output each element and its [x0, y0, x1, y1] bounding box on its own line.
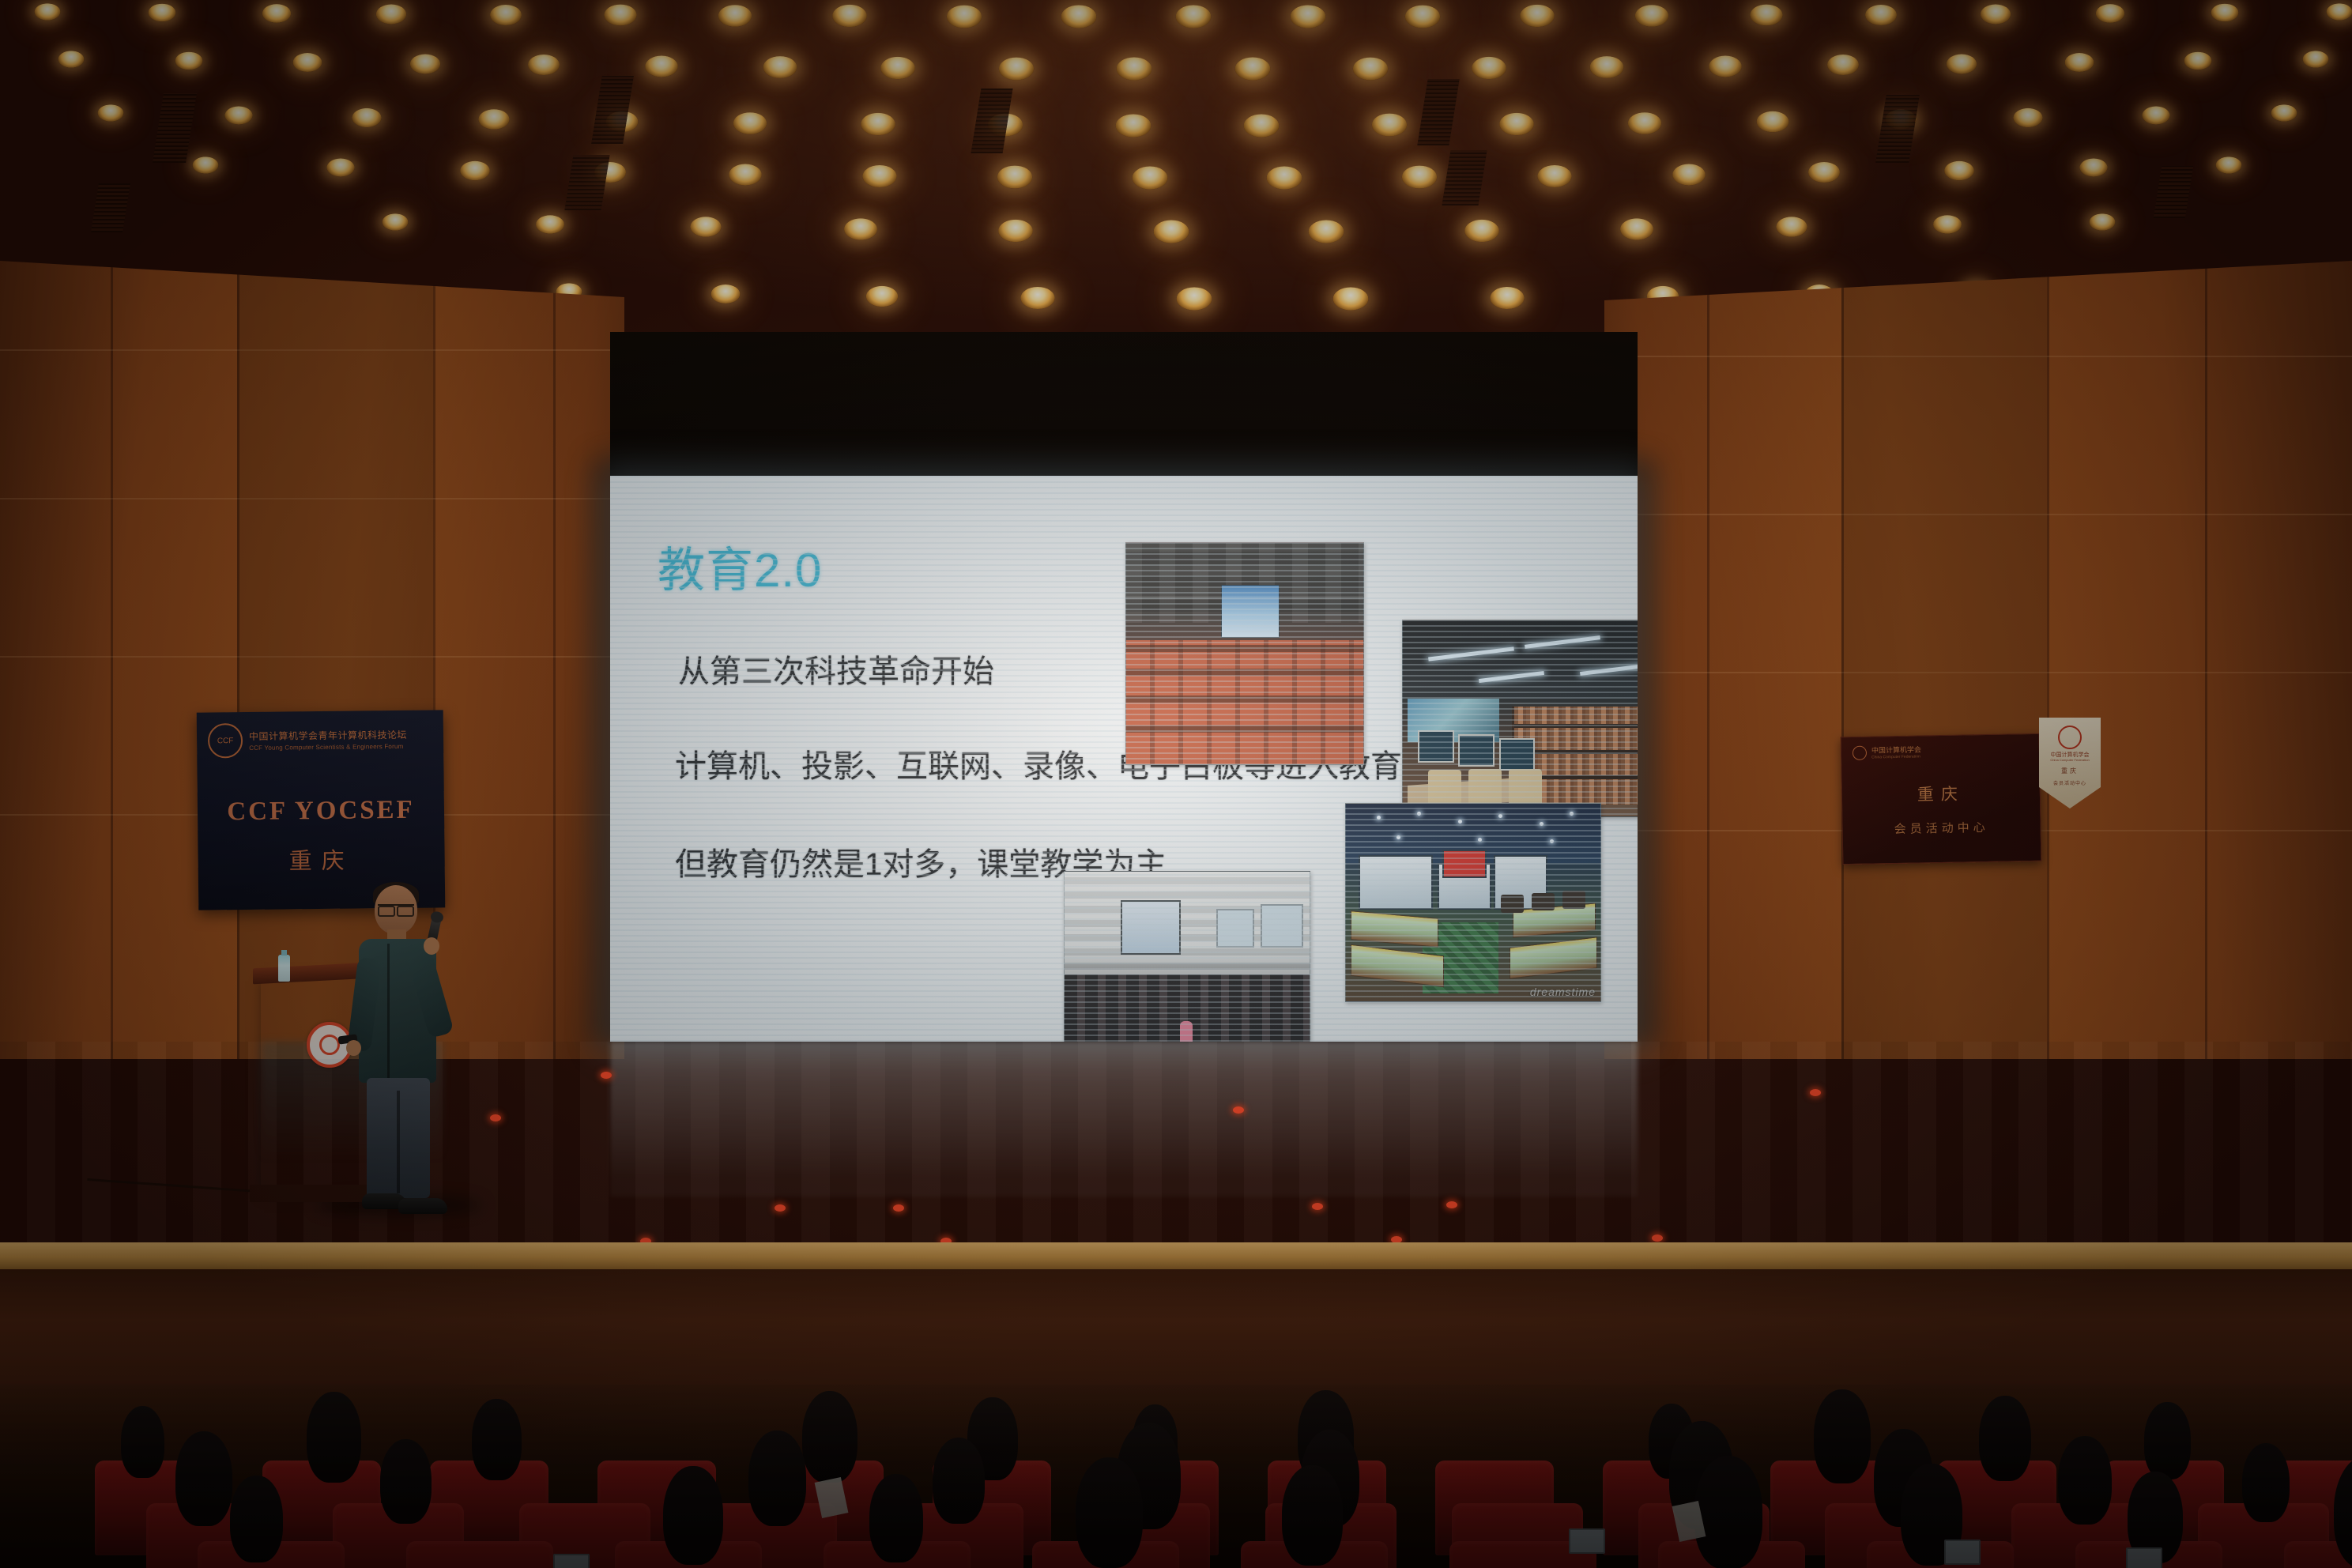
library-computer-photo — [1402, 620, 1638, 817]
ceiling-downlight — [1865, 5, 1897, 25]
plaque-subtitle: 会员活动中心 — [1842, 818, 2040, 838]
banner-city: 重庆 — [198, 841, 444, 876]
ceiling-downlight — [763, 56, 797, 78]
ceiling-downlight — [98, 104, 124, 121]
ceiling-downlight — [1332, 287, 1368, 310]
ceiling-downlight — [947, 5, 982, 28]
ceiling-downlight — [1267, 166, 1302, 189]
ceiling-downlight — [1405, 5, 1440, 28]
ceiling-downlight — [1808, 162, 1840, 183]
ceiling-downlight — [1061, 5, 1097, 28]
floor-marker — [1233, 1106, 1244, 1114]
ceiling-downlight — [999, 220, 1034, 242]
presenter-left-hand — [346, 1040, 361, 1056]
plaque-org-cn: 中国计算机学会 — [1871, 744, 1921, 755]
ceiling-downlight — [1709, 55, 1742, 77]
stage-edge-lip — [0, 1242, 2352, 1269]
ceiling-downlight — [2216, 156, 2242, 173]
presenter-right-hand — [424, 937, 439, 955]
ceiling-downlight — [2327, 3, 2352, 20]
ceiling-downlight — [2184, 52, 2211, 70]
pennant-subtitle: 会员活动中心 — [2039, 779, 2101, 786]
ceiling-downlight — [999, 57, 1034, 80]
audience-darkening-overlay — [0, 1385, 2352, 1568]
ceiling-downlight — [293, 53, 322, 72]
banner-org-en: CCF Young Computer Scientists & Engineer… — [249, 743, 407, 752]
slide-title: 教育2.0 — [658, 547, 822, 594]
ceiling-downlight — [1933, 216, 1962, 234]
auditorium-scene: 教育2.0 从第三次科技革命开始 计算机、投影、互联网、录像、电子白板等进入教育… — [0, 0, 2352, 1568]
ccf-logo-icon: CCF — [208, 723, 243, 758]
floor-marker — [893, 1204, 904, 1212]
ceiling-downlight — [1176, 5, 1212, 28]
floor-marker — [490, 1114, 501, 1121]
presenter — [341, 885, 452, 1217]
water-bottle — [278, 955, 290, 982]
ceiling-downlight — [1757, 111, 1789, 133]
ceiling-downlight — [881, 57, 916, 79]
ceiling-downlight — [528, 55, 560, 75]
ceiling-downlight — [149, 4, 176, 22]
plaque-city: 重庆 — [1842, 780, 2040, 807]
ceiling-downlight — [383, 213, 409, 230]
banner-title: CCF YOCSEF — [198, 795, 444, 827]
lecture-hall-photo — [1125, 542, 1364, 765]
ceiling-downlight — [1827, 55, 1859, 75]
ceiling-downlight — [729, 164, 762, 185]
ceiling-downlight — [1353, 57, 1388, 80]
ceiling-downlight — [1371, 114, 1406, 137]
ceiling-downlight — [1537, 165, 1571, 187]
ceiling-downlight — [2303, 51, 2329, 67]
ceiling-downlight — [1177, 287, 1212, 310]
ceiling-downlight — [2096, 4, 2124, 23]
ccf-yocsef-banner: CCF 中国计算机学会青年计算机科技论坛 CCF Young Computer … — [197, 710, 446, 910]
ceiling-downlight — [718, 5, 752, 27]
plaque-org-en: China Computer Federation — [1871, 754, 1921, 759]
slide-content: 教育2.0 从第三次科技革命开始 计算机、投影、互联网、录像、电子白板等进入教育… — [610, 476, 1638, 1042]
ceiling-downlight — [1490, 287, 1524, 309]
ceiling-downlight — [2090, 213, 2116, 230]
ceiling-downlight — [376, 4, 406, 24]
plaque-logo-icon — [1853, 745, 1867, 759]
screen-floor-reflection — [610, 1042, 1638, 1197]
ceiling-downlight — [1472, 57, 1506, 79]
photo-watermark: dreamstime — [1530, 986, 1596, 998]
ceiling-downlight — [2211, 4, 2239, 22]
banner-org-cn: 中国计算机学会青年计算机科技论坛 — [249, 728, 407, 743]
floor-marker — [1810, 1089, 1821, 1096]
ceiling-downlight — [1944, 160, 1974, 179]
ceiling-downlight — [1946, 54, 1976, 73]
ceiling-downlight — [861, 113, 895, 135]
ccf-chongqing-plaque: 中国计算机学会 China Computer Federation 重庆 会员活… — [1841, 733, 2042, 865]
left-wood-wall — [0, 261, 624, 1059]
shirt-placket — [387, 944, 390, 1080]
ceiling-downlight — [2014, 108, 2043, 127]
multimedia-hall-photo: dreamstime — [1345, 803, 1601, 1002]
ceiling-downlight — [844, 218, 877, 239]
ceiling-downlight — [262, 4, 291, 23]
ceiling-downlight — [1464, 220, 1499, 242]
ceiling-downlight — [1402, 166, 1437, 189]
ceiling-downlight — [1309, 220, 1344, 243]
ceiling-downlight — [1635, 5, 1668, 27]
ceiling-downlight — [1132, 166, 1167, 189]
ceiling-downlight — [224, 106, 252, 124]
projection-screen: 教育2.0 从第三次科技革命开始 计算机、投影、互联网、录像、电子白板等进入教育… — [610, 476, 1638, 1042]
right-wood-wall — [1604, 261, 2352, 1059]
ceiling-downlight — [733, 112, 767, 134]
ceiling-downlight — [1234, 57, 1270, 80]
ceiling-downlight — [710, 285, 740, 303]
ceiling-downlight — [490, 5, 522, 25]
pennant-org-en: China Computer Federation — [2039, 758, 2101, 762]
ceiling-downlight — [1116, 114, 1151, 137]
ceiling-downlight — [2271, 104, 2297, 121]
ceiling-downlight — [1620, 218, 1653, 239]
ceiling-downlight — [1117, 57, 1152, 80]
ceiling-downlight — [1673, 164, 1706, 185]
ceiling-downlight — [1243, 114, 1279, 137]
ceiling-downlight — [461, 160, 491, 179]
pennant-logo-icon — [2058, 726, 2082, 749]
slide-bullet-1: 从第三次科技革命开始 — [678, 656, 994, 688]
presenter-leg-split — [397, 1091, 400, 1193]
ceiling-downlight — [1628, 112, 1661, 134]
audience-area — [0, 1385, 2352, 1568]
ceiling-downlight — [646, 55, 679, 77]
computer-classroom-photo — [1064, 871, 1310, 1042]
ceiling-downlight — [1291, 5, 1326, 28]
ceiling-downlight — [863, 165, 897, 187]
presenter-right-shoe — [398, 1198, 447, 1214]
ceiling-downlight — [2065, 53, 2094, 72]
floor-marker — [1446, 1201, 1457, 1208]
floor-marker — [1312, 1203, 1323, 1210]
floor-marker — [1652, 1234, 1663, 1242]
ceiling-downlight — [1981, 4, 2011, 24]
ceiling-downlight — [1590, 56, 1624, 78]
ceiling-downlight — [997, 166, 1032, 189]
ceiling-downlight — [35, 3, 61, 20]
ceiling-downlight — [58, 51, 85, 67]
ceiling-downlight — [410, 54, 440, 73]
ceiling-downlight — [1153, 220, 1189, 243]
ceiling-downlight — [352, 108, 381, 127]
ceiling-downlight — [2143, 106, 2170, 124]
stage-front-face — [0, 1269, 2352, 1404]
ceiling-downlight — [865, 286, 897, 307]
ceiling-downlight — [193, 156, 219, 173]
pennant-city: 重庆 — [2039, 767, 2101, 775]
floor-marker — [775, 1204, 786, 1212]
ceiling-downlight — [326, 159, 354, 177]
eyeglasses-icon — [378, 904, 414, 914]
floor-marker — [601, 1072, 612, 1079]
ceiling-downlight — [1021, 287, 1055, 309]
